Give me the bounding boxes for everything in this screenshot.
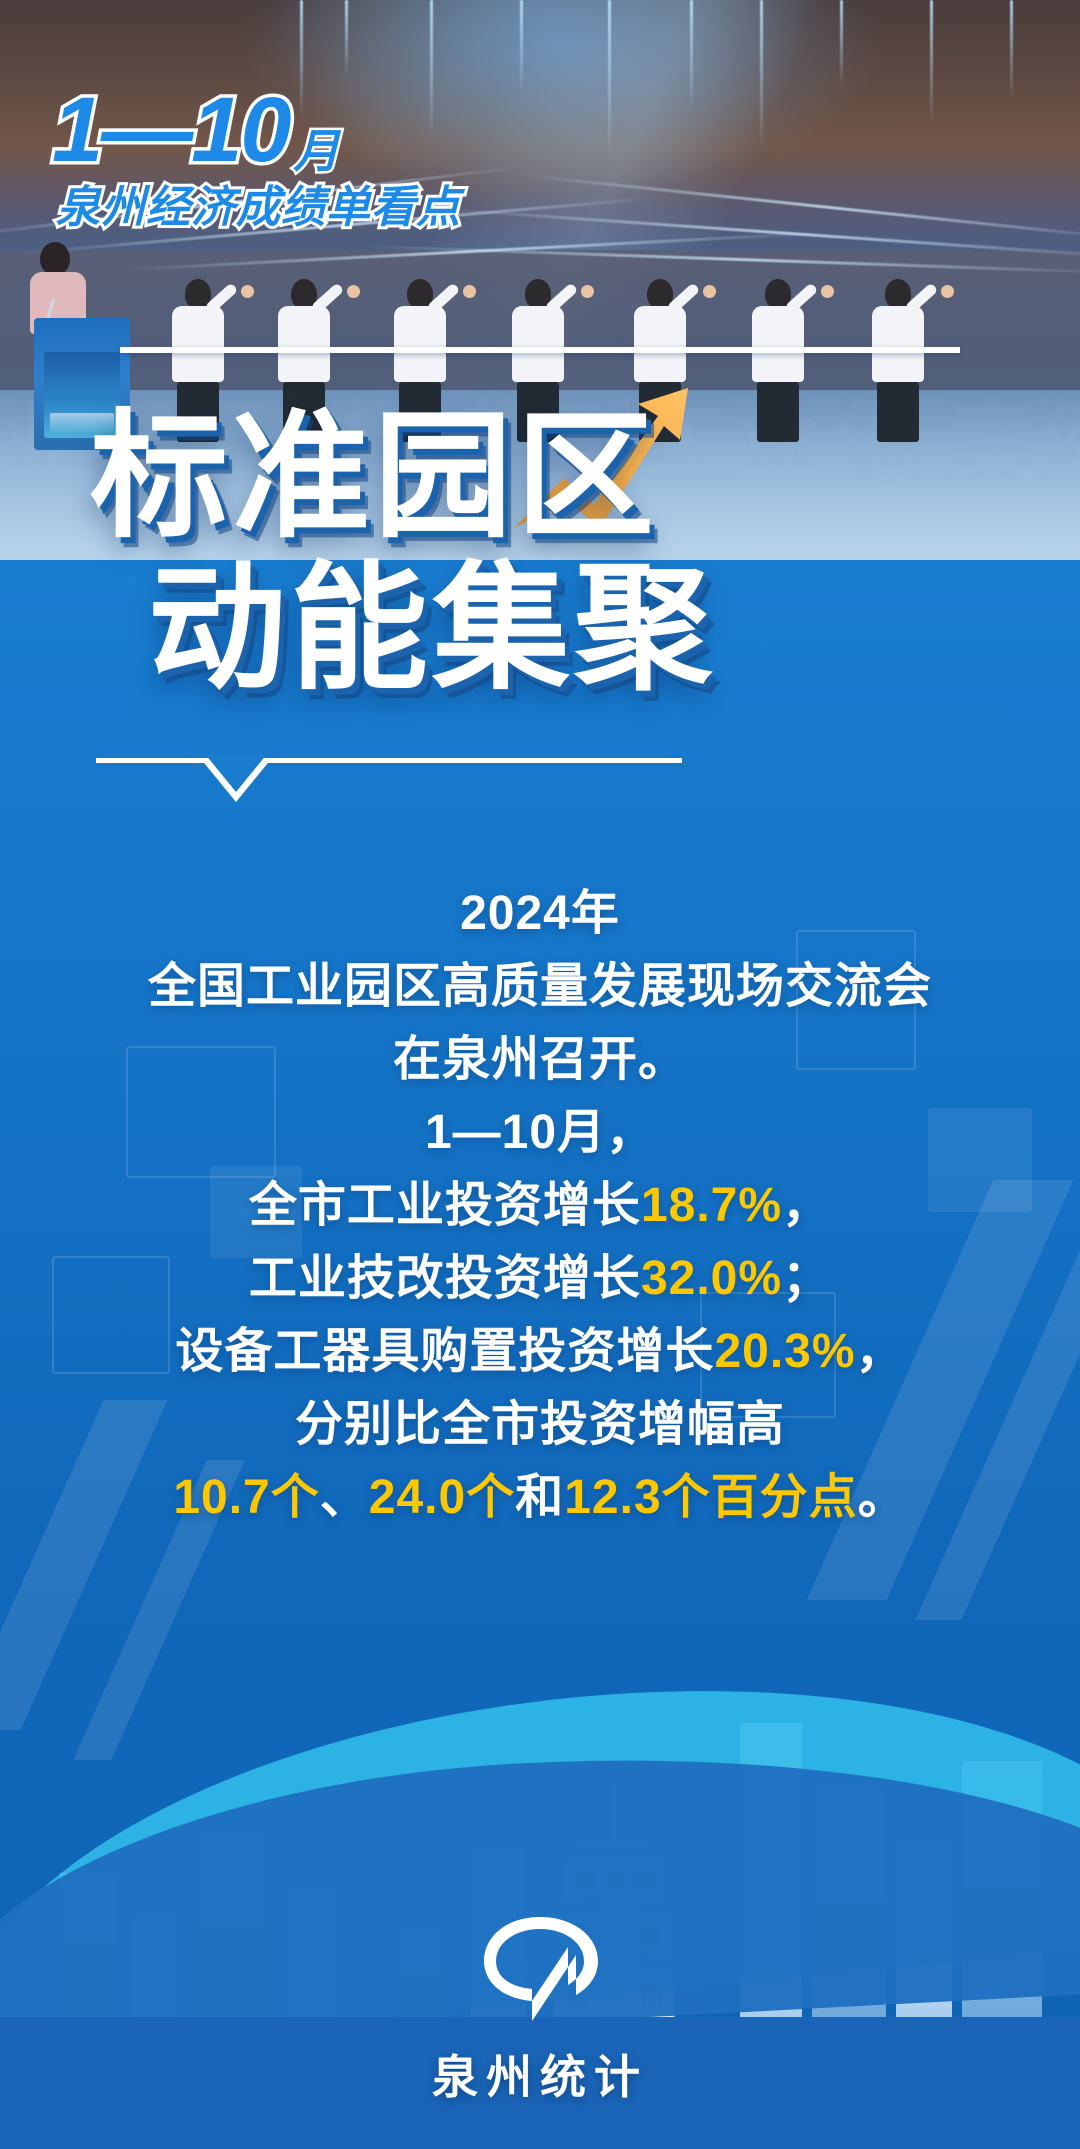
body-line: 在泉州召开。: [0, 1024, 1080, 1097]
footer-logo-text: 泉州统计: [0, 2041, 1080, 2107]
body-text: 全市工业投资增长: [249, 1179, 641, 1232]
body-text: 工业技改投资增长: [249, 1252, 641, 1305]
body-line: 1—10月，: [0, 1097, 1080, 1170]
period-ticker-subtitle: 泉州经济成绩单看点: [56, 186, 461, 230]
body-text: ，: [782, 1179, 831, 1232]
quanzhou-statistics-logo-icon: [476, 1909, 604, 2027]
body-text: 分别比全市投资增幅高: [295, 1398, 785, 1451]
body-text: 设备工器具购置投资增长: [175, 1325, 714, 1378]
main-title-line1: 标准园区: [90, 408, 658, 546]
body-text: 全国工业园区高质量发展现场交流会: [148, 960, 932, 1013]
highlighted-period: 1—10月，: [419, 1097, 661, 1170]
footer-logo-block: 泉州统计: [0, 1909, 1080, 2107]
body-text: 、: [320, 1471, 369, 1524]
body-text: 2024年: [460, 887, 620, 940]
body-text: 在泉州召开。: [393, 1033, 687, 1086]
body-line: 全国工业园区高质量发展现场交流会: [0, 951, 1080, 1024]
title-top-rule: [120, 347, 960, 353]
stat-value: 20.3%: [714, 1325, 855, 1378]
body-text: 和: [515, 1471, 564, 1524]
body-line: 工业技改投资增长32.0%；: [0, 1243, 1080, 1316]
body-copy: 2024年全国工业园区高质量发展现场交流会在泉州召开。1—10月，全市工业投资增…: [0, 878, 1080, 1535]
official-figure: [752, 279, 804, 442]
body-text: ，: [856, 1325, 905, 1378]
body-line: 分别比全市投资增幅高: [0, 1389, 1080, 1462]
period-ticker-range: 1—10: [52, 79, 290, 181]
body-line: 全市工业投资增长18.7%，: [0, 1170, 1080, 1243]
stat-value: 32.0%: [641, 1252, 782, 1305]
body-line: 设备工器具购置投资增长20.3%，: [0, 1316, 1080, 1389]
body-line: 10.7个、24.0个和12.3个百分点。: [0, 1462, 1080, 1535]
main-title-line2: 动能集聚: [148, 560, 716, 698]
top-headline-overlay: 1—10月 泉州经济成绩单看点: [0, 0, 1080, 280]
official-figure: [872, 279, 924, 442]
period-ticker-unit: 月: [294, 128, 338, 174]
stat-value: 12.3个百分点: [564, 1471, 857, 1524]
stat-value: 24.0个: [369, 1471, 515, 1524]
poster-root: 业园区推进新型工业化 案例集发布: [0, 0, 1080, 2149]
body-text: 。: [858, 1471, 907, 1524]
callout-notch: [200, 758, 272, 802]
stat-value: 18.7%: [641, 1179, 782, 1232]
body-line: 2024年: [0, 878, 1080, 951]
stat-value: 10.7个: [173, 1471, 319, 1524]
callout-rule-right: [296, 758, 682, 763]
period-ticker: 1—10月: [52, 84, 338, 176]
body-text: ；: [782, 1252, 831, 1305]
